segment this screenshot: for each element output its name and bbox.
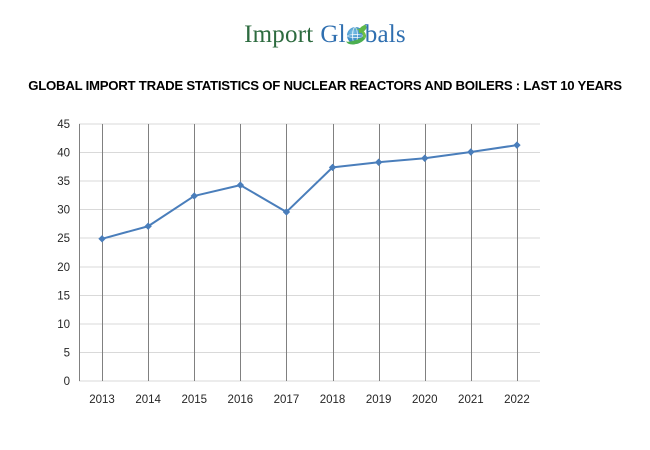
y-tick-label: 15 xyxy=(57,290,70,302)
data-point-marker xyxy=(422,155,428,161)
y-tick-label: 20 xyxy=(57,262,70,274)
line-chart: 051015202530354045 201320142015201620172… xyxy=(0,106,650,416)
data-point-marker xyxy=(99,236,105,242)
series-polyline xyxy=(102,145,517,239)
data-point-marker xyxy=(376,159,382,165)
x-tick-label: 2015 xyxy=(181,394,207,406)
x-tick-label: 2022 xyxy=(504,394,530,406)
x-tick-label: 2021 xyxy=(458,394,484,406)
y-axis-tick-labels: 051015202530354045 xyxy=(57,119,70,388)
x-tick-label: 2014 xyxy=(135,394,161,406)
vertical-gridlines xyxy=(103,124,518,381)
y-tick-label: 0 xyxy=(64,376,70,388)
x-tick-label: 2020 xyxy=(412,394,438,406)
x-tick-label: 2017 xyxy=(274,394,300,406)
page-title: GLOBAL IMPORT TRADE STATISTICS OF NUCLEA… xyxy=(0,78,650,93)
data-point-marker xyxy=(514,142,520,148)
x-tick-label: 2019 xyxy=(366,394,392,406)
x-axis-tick-labels: 2013201420152016201720182019202020212022 xyxy=(89,394,529,406)
data-point-marker xyxy=(468,149,474,155)
y-tick-label: 45 xyxy=(57,119,70,131)
y-tick-label: 40 xyxy=(57,148,70,160)
y-tick-label: 5 xyxy=(64,347,70,359)
logo-wordmark: ImportGl bals xyxy=(244,22,406,47)
y-tick-label: 35 xyxy=(57,176,70,188)
x-tick-label: 2016 xyxy=(228,394,254,406)
globe-icon xyxy=(346,26,365,45)
y-tick-label: 10 xyxy=(57,319,70,331)
x-tick-label: 2018 xyxy=(320,394,346,406)
y-tick-label: 30 xyxy=(57,205,70,217)
chart-svg-canvas: 051015202530354045 201320142015201620172… xyxy=(0,106,650,416)
logo-text-gl: Gl xyxy=(320,22,345,47)
logo-text-bals: bals xyxy=(365,22,406,47)
y-tick-label: 25 xyxy=(57,233,70,245)
brand-logo: ImportGl bals xyxy=(0,22,650,56)
data-series-markers xyxy=(99,142,520,242)
data-series-line xyxy=(102,145,517,239)
logo-text-import: Import xyxy=(244,22,313,47)
x-tick-label: 2013 xyxy=(89,394,115,406)
